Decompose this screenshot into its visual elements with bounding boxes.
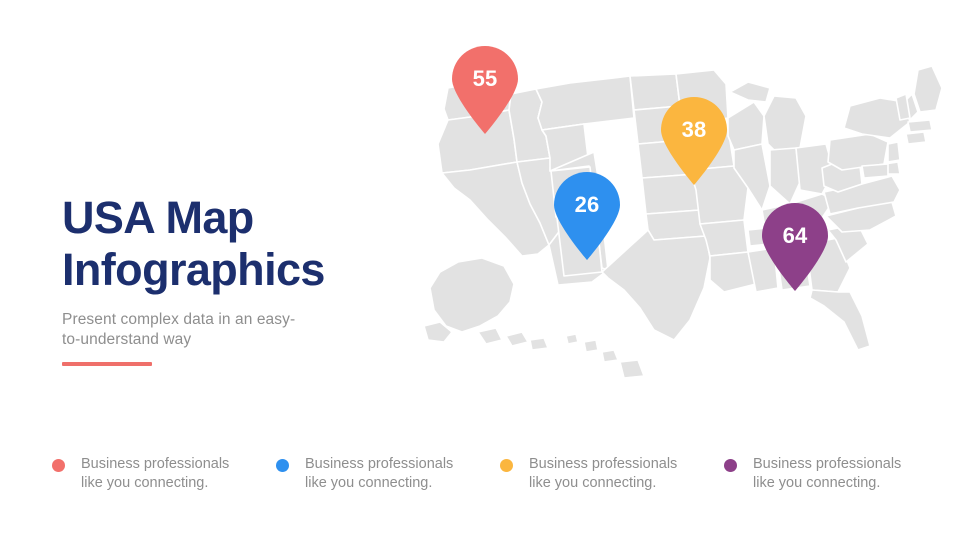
legend-item-label: Business professionals like you connecti… [81, 455, 229, 493]
legend-item[interactable]: Business professionals like you connecti… [52, 455, 276, 493]
title-underline-rule [62, 362, 152, 366]
heading-block: USA Map Infographics Present complex dat… [62, 192, 392, 350]
pin-shape [661, 97, 727, 185]
legend-item[interactable]: Business professionals like you connecti… [276, 455, 500, 493]
page-title: USA Map Infographics [62, 192, 392, 296]
legend-item-label: Business professionals like you connecti… [529, 455, 677, 493]
legend-dot-icon [276, 459, 289, 472]
legend: Business professionals like you connecti… [52, 455, 948, 493]
legend-dot-icon [52, 459, 65, 472]
map-pin-55[interactable]: 55 [452, 46, 518, 134]
slide-canvas: USA Map Infographics Present complex dat… [0, 0, 980, 551]
pin-shape [452, 46, 518, 134]
legend-dot-icon [724, 459, 737, 472]
pin-shape [554, 172, 620, 260]
legend-dot-icon [500, 459, 513, 472]
legend-item-label: Business professionals like you connecti… [753, 455, 901, 493]
legend-item[interactable]: Business professionals like you connecti… [724, 455, 948, 493]
page-subtitle: Present complex data in an easy- to-unde… [62, 310, 322, 350]
map-pin-26[interactable]: 26 [554, 172, 620, 260]
map-pin-38[interactable]: 38 [661, 97, 727, 185]
legend-item-label: Business professionals like you connecti… [305, 455, 453, 493]
pin-shape [762, 203, 828, 291]
legend-item[interactable]: Business professionals like you connecti… [500, 455, 724, 493]
map-pin-64[interactable]: 64 [762, 203, 828, 291]
